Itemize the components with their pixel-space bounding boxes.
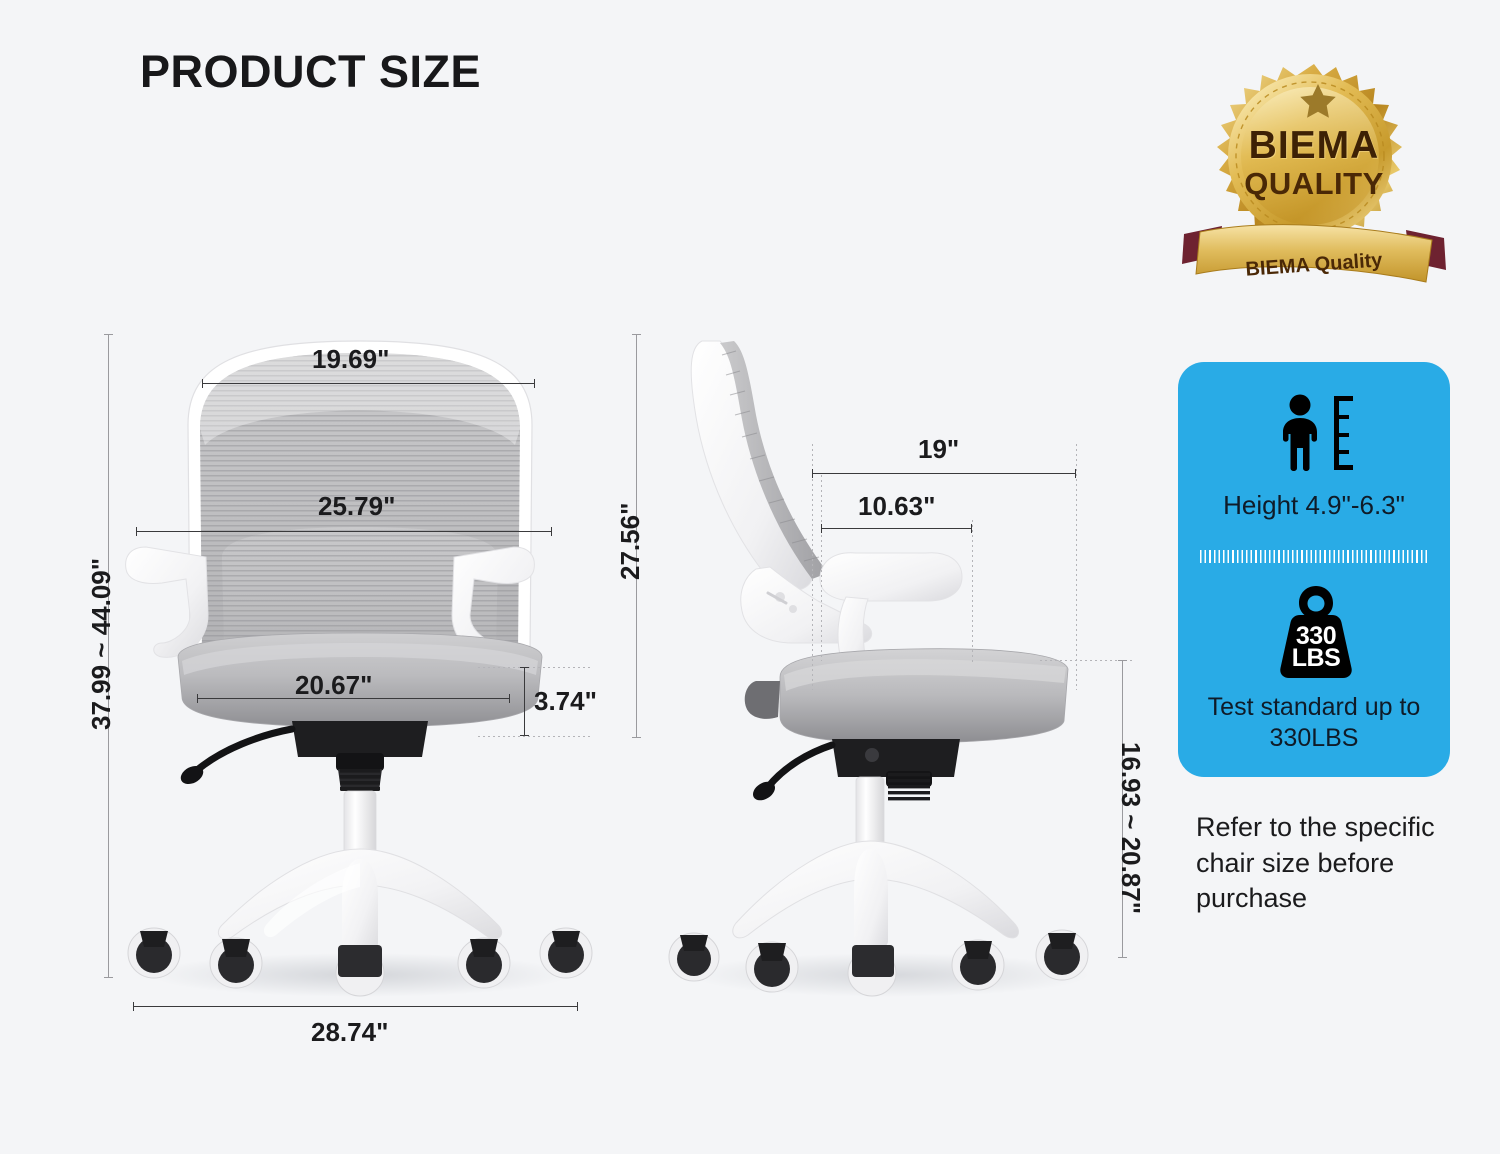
dim-backrest-width: 19.69" (312, 344, 389, 375)
ext-seat-depth-left (812, 444, 813, 690)
product-size-infographic: PRODUCT SIZE (0, 0, 1500, 1154)
feature-panel: Height 4.9"-6.3" 330 LBS Test standard u… (1178, 362, 1450, 777)
person-height-icon (1274, 394, 1356, 474)
weight-capacity-icon: 330 LBS (1273, 584, 1359, 680)
dim-armrest-depth: 10.63" (858, 491, 935, 522)
dimline-seat-depth (812, 473, 1076, 474)
ext-seat-depth-right (1076, 444, 1077, 690)
quality-badge: BIEMA QUALITY BIEMA Quality (1178, 62, 1450, 307)
badge-quality-text: QUALITY (1178, 166, 1450, 202)
dim-seat-width: 20.67" (295, 670, 372, 701)
weight-unit: LBS (1273, 644, 1359, 673)
height-range-label: Height 4.9"-6.3" (1186, 490, 1442, 521)
page-title: PRODUCT SIZE (140, 46, 481, 98)
dimline-base-width (133, 1006, 578, 1007)
dim-seat-depth: 19" (918, 434, 959, 465)
dim-seat-height-range: 16.93 ~ 20.87" (1115, 742, 1146, 914)
ext-seat-bottom (478, 736, 590, 737)
dim-armrest-span: 25.79" (318, 491, 395, 522)
weight-capacity-label: Test standard up to 330LBS (1186, 692, 1442, 754)
badge-brand-text: BIEMA (1178, 124, 1450, 168)
dimline-armrest-depth (821, 528, 972, 529)
dimline-backrest-width (202, 383, 535, 384)
chair-front-view (110, 325, 610, 1005)
chair-side-view (660, 325, 1120, 1005)
dim-base-width: 28.74" (311, 1017, 388, 1048)
dim-overall-height: 37.99 ~ 44.09" (86, 558, 117, 730)
dimline-seat-thickness (524, 667, 525, 736)
ext-armrest-depth-right (972, 520, 973, 665)
ext-armrest-depth-left (821, 475, 822, 661)
dotted-divider (1200, 550, 1428, 563)
dimline-armrest-span (136, 531, 552, 532)
ext-seat-top (478, 667, 590, 668)
dim-backrest-height: 27.56" (615, 503, 646, 580)
purchase-note: Refer to the specific chair size before … (1196, 810, 1458, 917)
dim-seat-thickness: 3.74" (534, 686, 597, 717)
